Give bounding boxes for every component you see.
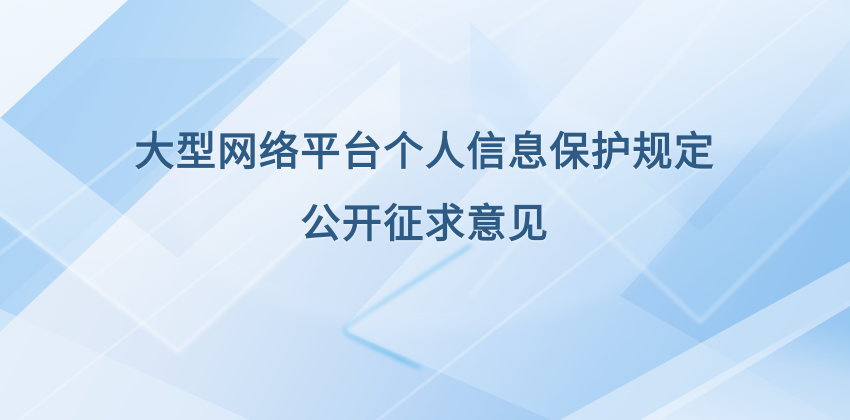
headline-line-2: 公开征求意见	[0, 204, 850, 244]
diagonal-wedge-bottom-left	[0, 300, 250, 420]
headline-line-1: 大型网络平台个人信息保护规定	[0, 132, 850, 172]
light-streak-lower-left	[0, 235, 256, 420]
headline-block: 大型网络平台个人信息保护规定 公开征求意见	[0, 132, 850, 244]
banner-graphic: 大型网络平台个人信息保护规定 公开征求意见	[0, 0, 850, 420]
diagonal-wedge-bottom-right	[500, 300, 850, 420]
arrow-panel-vertex-highlight	[344, 246, 470, 368]
glow-top-right	[510, 0, 850, 150]
diagonal-wedge-bottom-right-2	[560, 256, 850, 420]
chevron-panel-top-center	[150, 0, 760, 140]
chevron-panel-top-center-edge	[262, 0, 640, 62]
